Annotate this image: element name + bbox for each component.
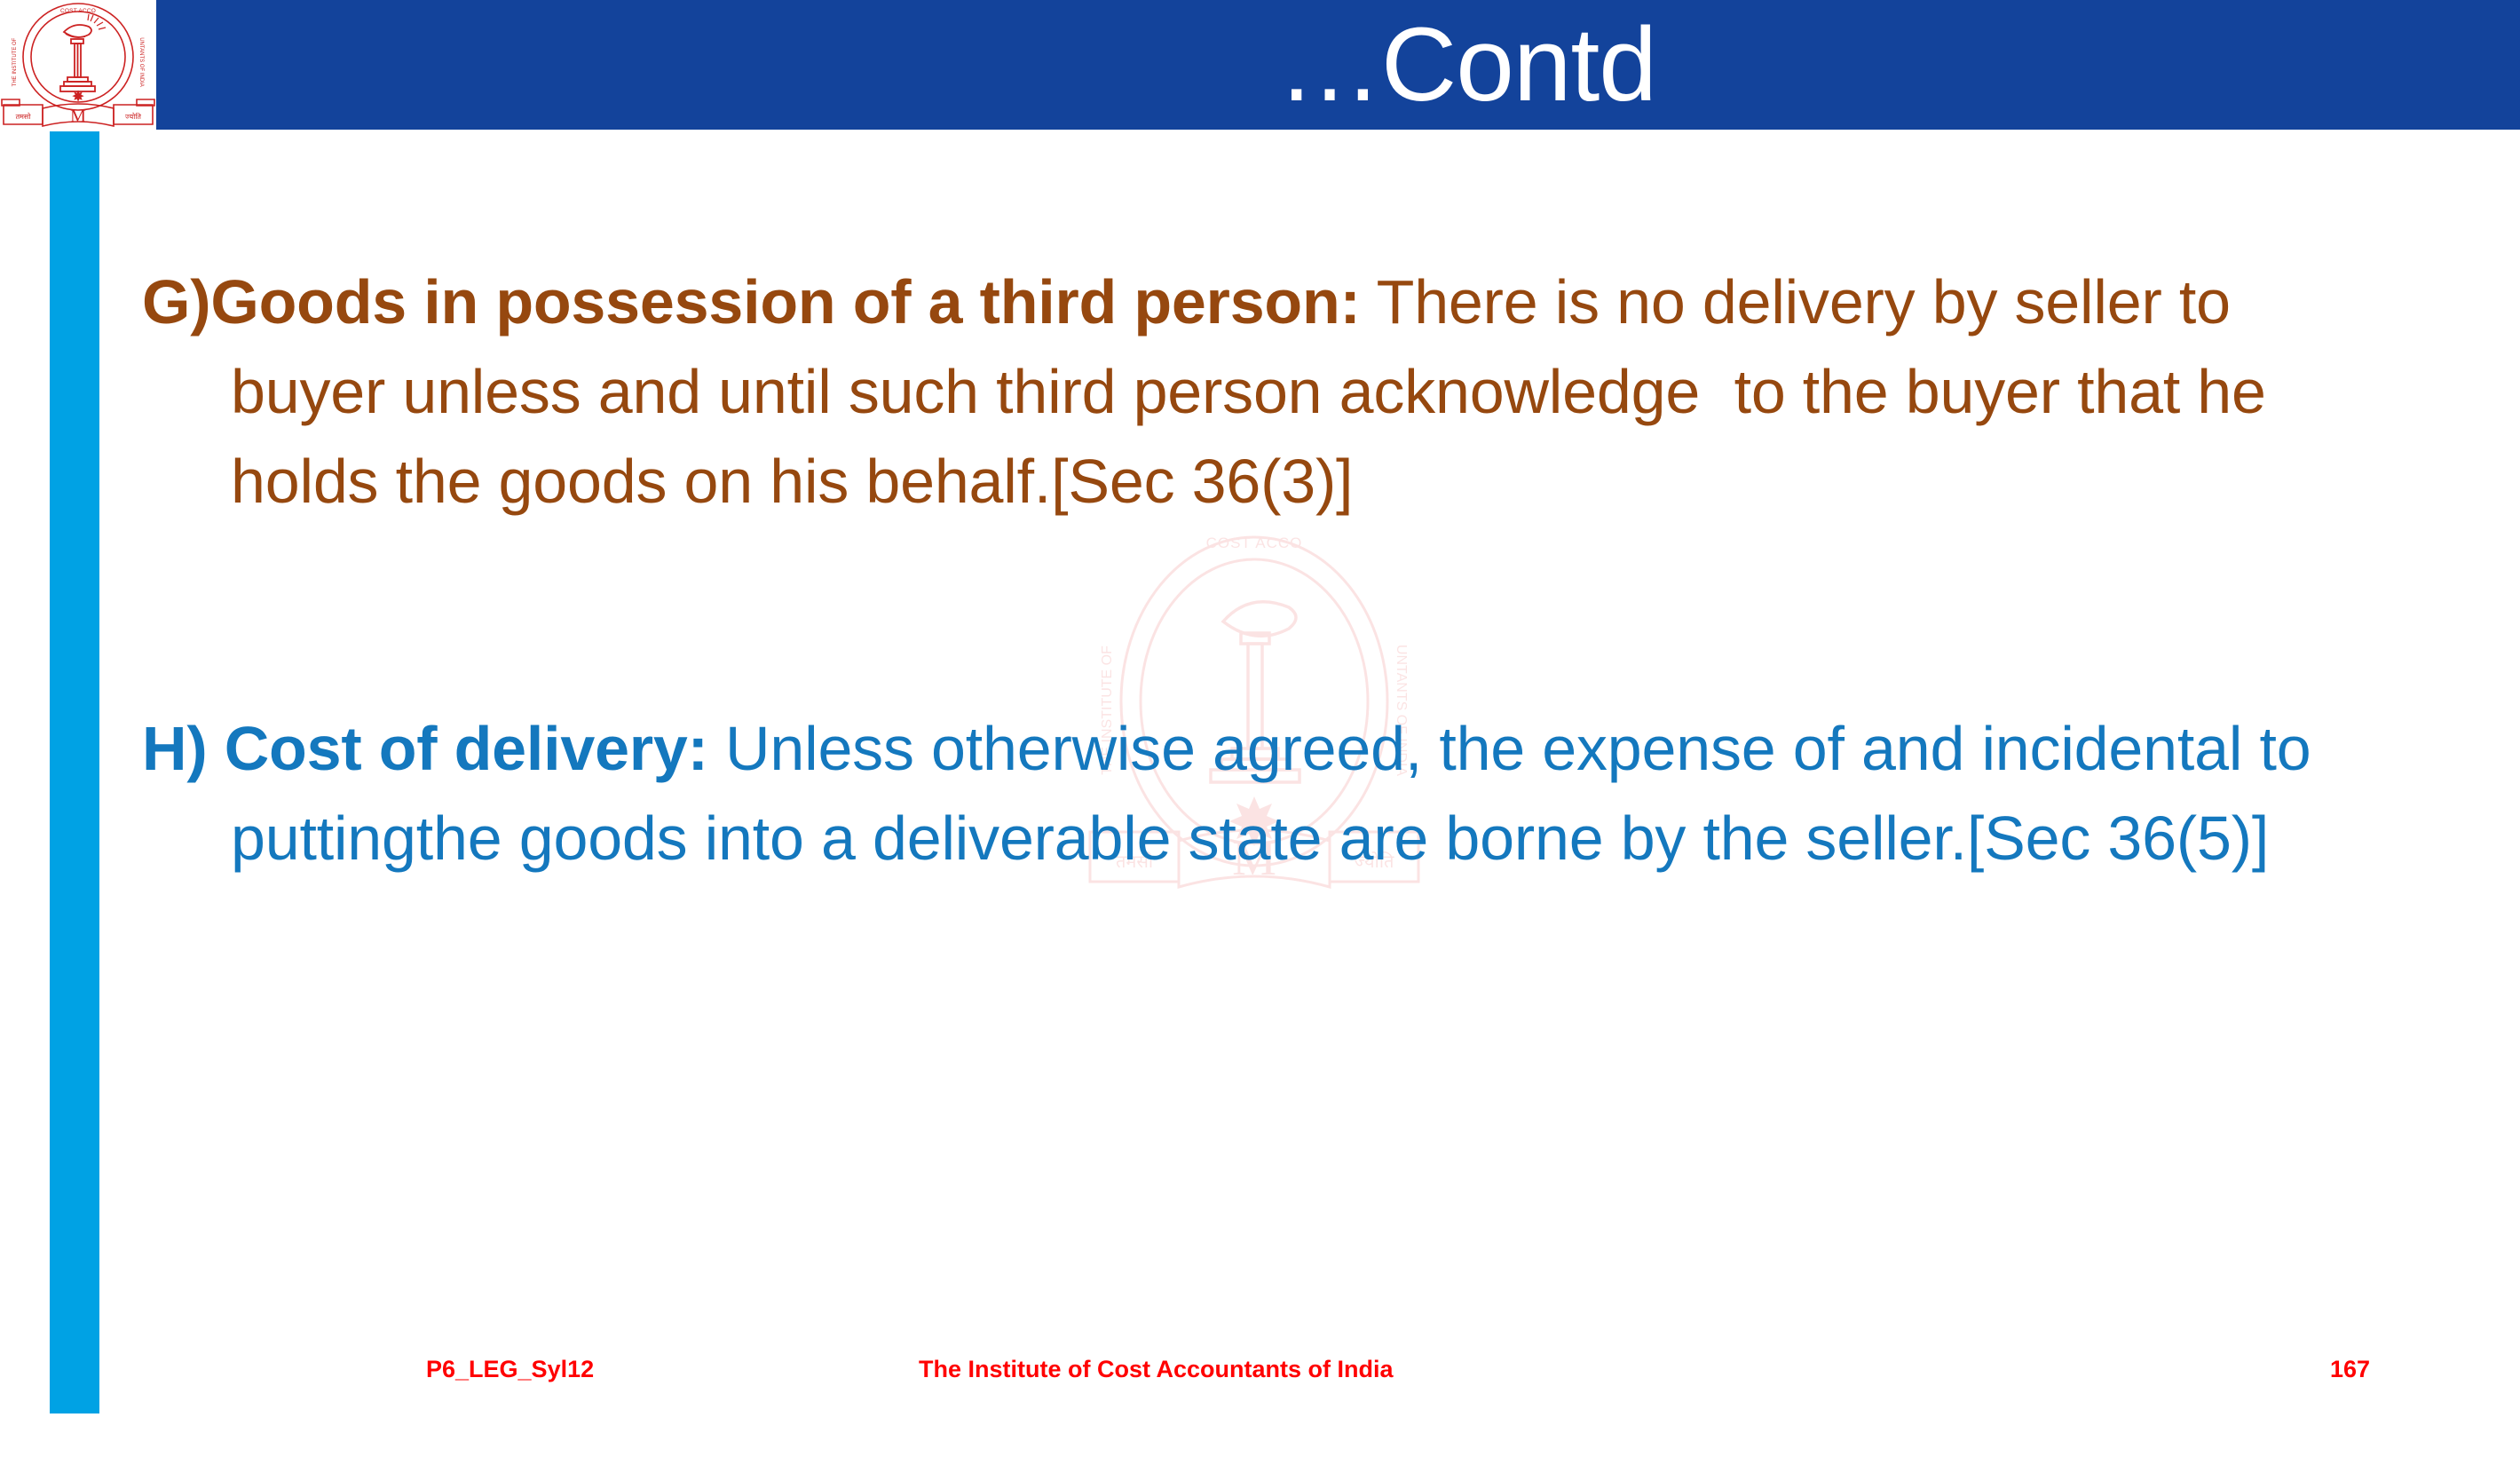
bullet-point-h: H) Cost of delivery: Unless otherwise ag… bbox=[142, 704, 2379, 883]
bullet-point-g: G)Goods in possession of a third person:… bbox=[142, 257, 2379, 527]
svg-text:COST ACCO: COST ACCO bbox=[60, 8, 96, 14]
footer-page-number: 167 bbox=[2330, 1356, 2370, 1383]
footer-institute-name: The Institute of Cost Accountants of Ind… bbox=[919, 1356, 1394, 1383]
footer-subject-code: P6_LEG_Syl12 bbox=[426, 1356, 594, 1383]
bullet-point-h-lead: H) Cost of delivery: bbox=[142, 714, 708, 783]
slide: …Contd bbox=[0, 0, 2520, 1457]
slide-footer: P6_LEG_Syl12 The Institute of Cost Accou… bbox=[0, 1356, 2520, 1409]
svg-text:तमसो: तमसो bbox=[16, 112, 32, 121]
institute-logo: COST ACCO THE INSTITUTE OF UNTANTS OF IN… bbox=[0, 0, 156, 135]
body-content: G)Goods in possession of a third person:… bbox=[142, 257, 2379, 1270]
bullet-point-g-lead: G)Goods in possession of a third person: bbox=[142, 267, 1361, 337]
svg-text:M: M bbox=[70, 107, 86, 126]
svg-text:UNTANTS OF INDIA: UNTANTS OF INDIA bbox=[138, 37, 144, 87]
svg-text:ज्योति: ज्योति bbox=[125, 112, 141, 121]
svg-text:THE INSTITUTE OF: THE INSTITUTE OF bbox=[12, 37, 18, 86]
page-title: …Contd bbox=[156, 0, 2520, 130]
left-accent-strip bbox=[50, 131, 99, 1413]
